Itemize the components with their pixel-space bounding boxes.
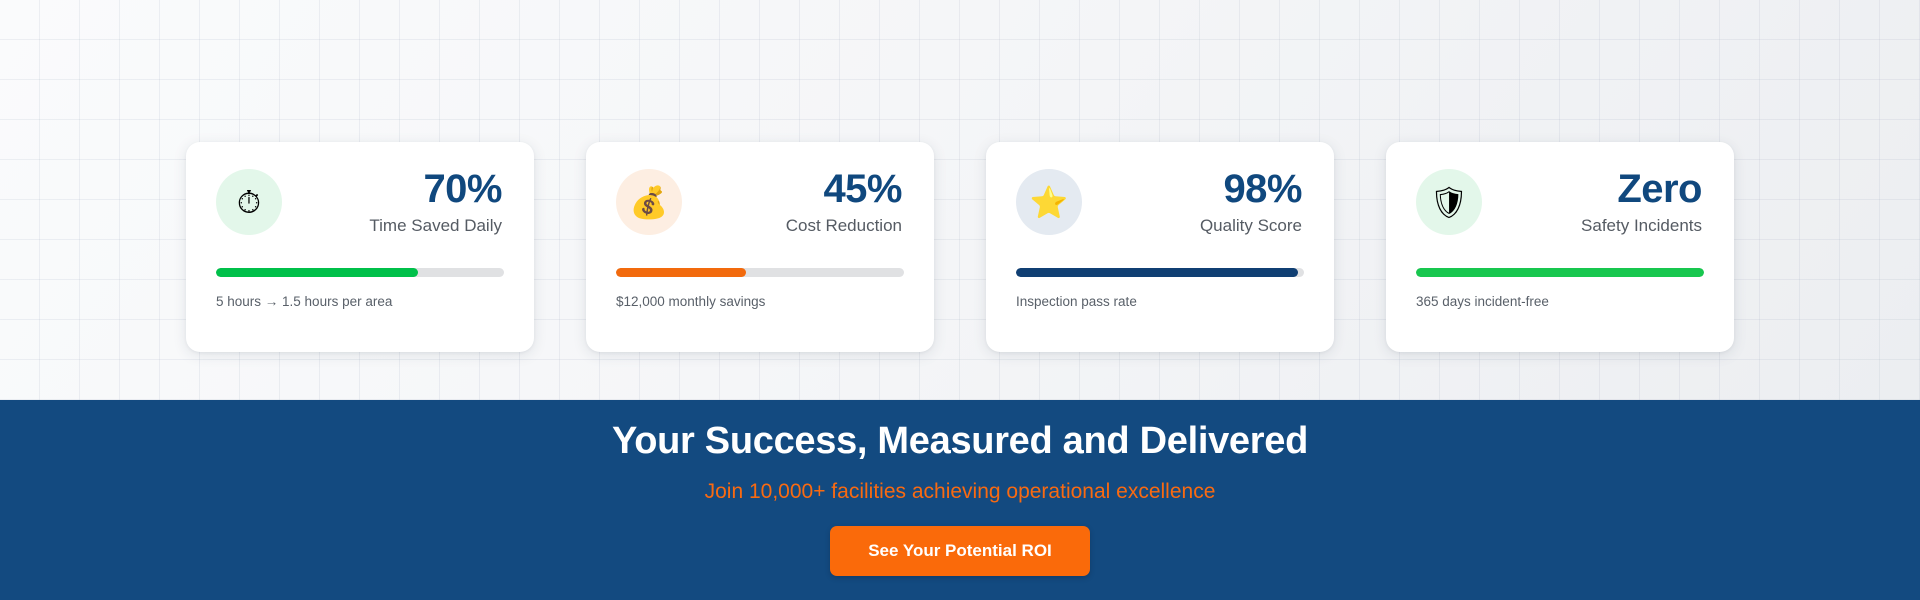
stat-value: 45%: [700, 168, 902, 210]
stat-card[interactable]: ⭐ 98% Quality Score Inspection pass rate: [986, 142, 1334, 352]
stat-caption: Inspection pass rate: [1016, 294, 1137, 309]
stats-section: ⏱ 70% Time Saved Daily 5 hours → 1.5 hou…: [0, 0, 1920, 400]
cta-heading: Your Success, Measured and Delivered: [612, 418, 1308, 466]
stat-card-header: 💰 45% Cost Reduction: [616, 168, 904, 236]
stat-card-figures: 98% Quality Score: [1100, 168, 1304, 236]
progress-bar-track: [1416, 268, 1704, 277]
stat-card[interactable]: 🛡 Zero Safety Incidents 365 days inciden…: [1386, 142, 1734, 352]
stat-label: Quality Score: [1100, 216, 1302, 236]
page-root: ⏱ 70% Time Saved Daily 5 hours → 1.5 hou…: [0, 0, 1920, 600]
stat-card-header: ⏱ 70% Time Saved Daily: [216, 168, 504, 236]
progress-bar-track: [1016, 268, 1304, 277]
stat-card-header: 🛡 Zero Safety Incidents: [1416, 168, 1704, 236]
progress-bar-fill: [1016, 268, 1298, 277]
stat-label: Cost Reduction: [700, 216, 902, 236]
progress-bar-track: [216, 268, 504, 277]
stat-card[interactable]: ⏱ 70% Time Saved Daily 5 hours → 1.5 hou…: [186, 142, 534, 352]
progress-bar-fill: [216, 268, 418, 277]
see-potential-roi-button[interactable]: See Your Potential ROI: [830, 526, 1090, 576]
stats-cards-row: ⏱ 70% Time Saved Daily 5 hours → 1.5 hou…: [0, 142, 1920, 352]
shield-icon: 🛡: [1416, 169, 1482, 235]
stat-caption: 5 hours → 1.5 hours per area: [216, 294, 392, 309]
stat-caption: 365 days incident-free: [1416, 294, 1549, 309]
stat-value: 98%: [1100, 168, 1302, 210]
progress-bar-fill: [616, 268, 746, 277]
stat-label: Time Saved Daily: [300, 216, 502, 236]
stopwatch-icon: ⏱: [216, 169, 282, 235]
stat-card-figures: Zero Safety Incidents: [1500, 168, 1704, 236]
stat-value: Zero: [1500, 168, 1702, 210]
cta-subheading: Join 10,000+ facilities achieving operat…: [705, 480, 1216, 504]
progress-bar-track: [616, 268, 904, 277]
stat-card-figures: 70% Time Saved Daily: [300, 168, 504, 236]
money-bag-icon: 💰: [616, 169, 682, 235]
stat-value: 70%: [300, 168, 502, 210]
progress-bar-fill: [1416, 268, 1704, 277]
stat-card[interactable]: 💰 45% Cost Reduction $12,000 monthly sav…: [586, 142, 934, 352]
stat-card-header: ⭐ 98% Quality Score: [1016, 168, 1304, 236]
cta-banner: Your Success, Measured and Delivered Joi…: [0, 400, 1920, 600]
stat-label: Safety Incidents: [1500, 216, 1702, 236]
star-icon: ⭐: [1016, 169, 1082, 235]
stat-card-figures: 45% Cost Reduction: [700, 168, 904, 236]
stat-caption: $12,000 monthly savings: [616, 294, 765, 309]
